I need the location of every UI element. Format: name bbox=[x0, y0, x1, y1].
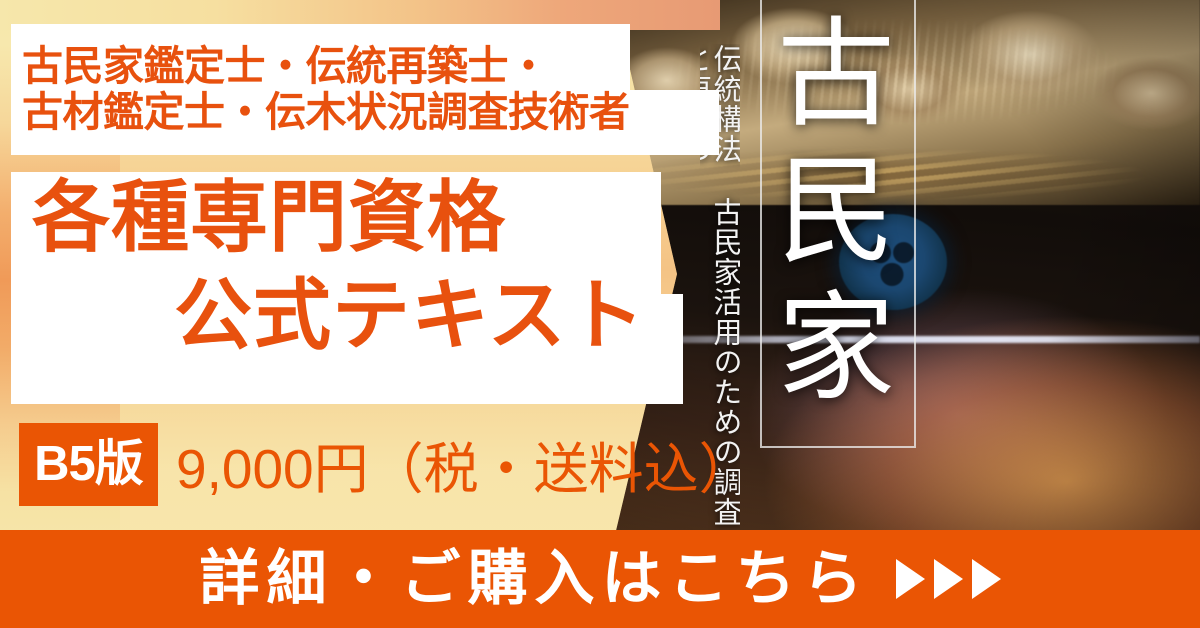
headline-text: 各種専門資格 公式テキスト bbox=[11, 172, 683, 404]
headline-line-1: 各種専門資格 bbox=[32, 178, 506, 256]
promo-banner: 古民家 伝統構法 古民家活用のための調査と再生の 古民家鑑定士・伝統再築士・ 古… bbox=[0, 0, 1200, 628]
headline-line-2: 公式テキスト bbox=[174, 276, 646, 354]
book-cover-title: 古民家 bbox=[770, 8, 902, 438]
cta-content: 詳細・ご購入はこちら bbox=[200, 549, 1001, 609]
cta-arrows bbox=[896, 559, 1001, 599]
format-badge: B5版 bbox=[19, 423, 158, 506]
cta-label: 詳細・ご購入はこちら bbox=[200, 549, 870, 609]
play-arrow-icon bbox=[896, 559, 925, 599]
qualifications-text: 古民家鑑定士・伝統再築士・ 古材鑑定士・伝木状況調査技術者 bbox=[11, 24, 719, 155]
cta-bar[interactable]: 詳細・ご購入はこちら bbox=[0, 530, 1200, 628]
play-arrow-icon bbox=[934, 559, 963, 599]
qualifications-line-2: 古材鑑定士・伝木状況調査技術者 bbox=[22, 90, 719, 136]
qualifications-line-1: 古民家鑑定士・伝統再築士・ bbox=[22, 44, 719, 90]
play-arrow-icon bbox=[972, 559, 1001, 599]
price-label: 9,000円（税・送料込） bbox=[176, 428, 754, 500]
